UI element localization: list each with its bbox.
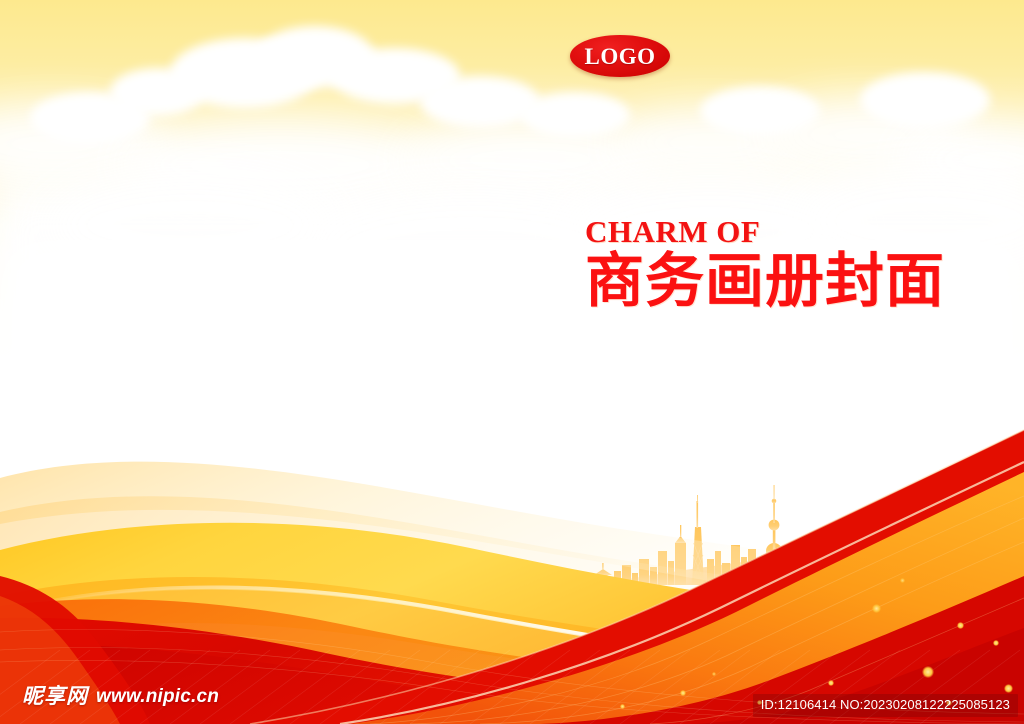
cover-title-block: CHARM OF 商务画册封面 (585, 216, 985, 311)
logo-badge[interactable]: LOGO (570, 35, 670, 77)
site-watermark: 昵享网 www.nipic.cn (22, 686, 219, 707)
logo-text: LOGO (584, 45, 655, 68)
asset-id-badge: ID:12106414 NO:20230208122225085123 (753, 694, 1018, 717)
watermark-brand: 昵享网 (22, 686, 88, 707)
title-english: CHARM OF (585, 216, 985, 249)
brochure-cover-canvas: LOGO CHARM OF 商务画册封面 (0, 0, 1024, 724)
asset-id-text: ID:12106414 NO:20230208122225085123 (761, 697, 1010, 712)
watermark-url: www.nipic.cn (96, 687, 219, 706)
title-chinese: 商务画册封面 (585, 251, 985, 311)
flowing-ribbon-waves (0, 400, 1024, 724)
